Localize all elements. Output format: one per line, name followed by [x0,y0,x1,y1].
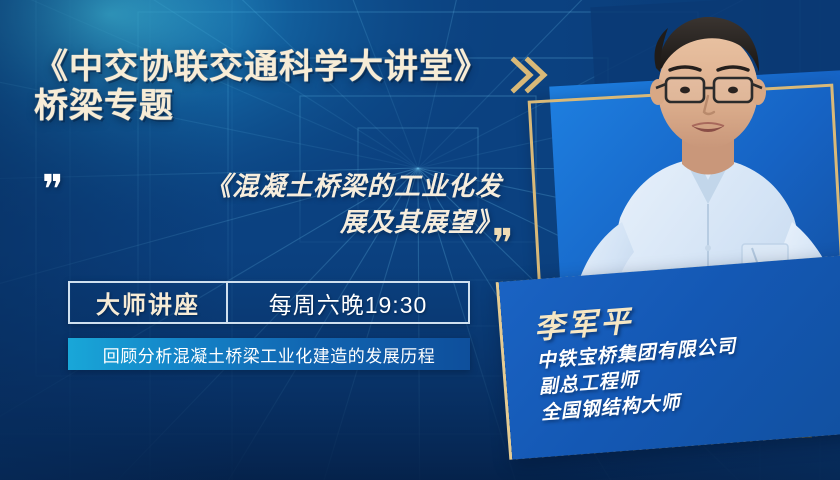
quote-mark-close-icon: ❞ [492,224,511,264]
headline-line-2: 桥梁专题 [34,87,594,126]
quote-mark-open-icon: ❞ [42,170,61,210]
quote-text: 《混凝土桥梁的工业化发 展及其展望》 [92,168,502,240]
lecture-schedule: 每周六晚19:30 [228,286,468,320]
lecture-poster: 《中交协联交通科学大讲堂》 桥梁专题 ❞ 《混凝土桥梁的工业化发 展及其展望》 … [0,0,840,480]
poster-headline: 《中交协联交通科学大讲堂》 桥梁专题 [34,48,594,126]
lecture-topic-quote: ❞ 《混凝土桥梁的工业化发 展及其展望》 ❞ [40,168,520,240]
quote-line-2: 展及其展望》 [92,204,502,240]
lecture-label: 大师讲座 [70,285,226,320]
headline-line-1: 《中交协联交通科学大讲堂》 [34,48,594,87]
lecture-description-strip: 回顾分析混凝土桥梁工业化建造的发展历程 [68,338,470,370]
lecture-info-bar: 大师讲座 每周六晚19:30 [68,281,470,324]
quote-line-1: 《混凝土桥梁的工业化发 [92,168,502,204]
speaker-nameplate: 李军平 中铁宝桥集团有限公司 副总工程师 全国钢结构大师 [499,254,840,459]
